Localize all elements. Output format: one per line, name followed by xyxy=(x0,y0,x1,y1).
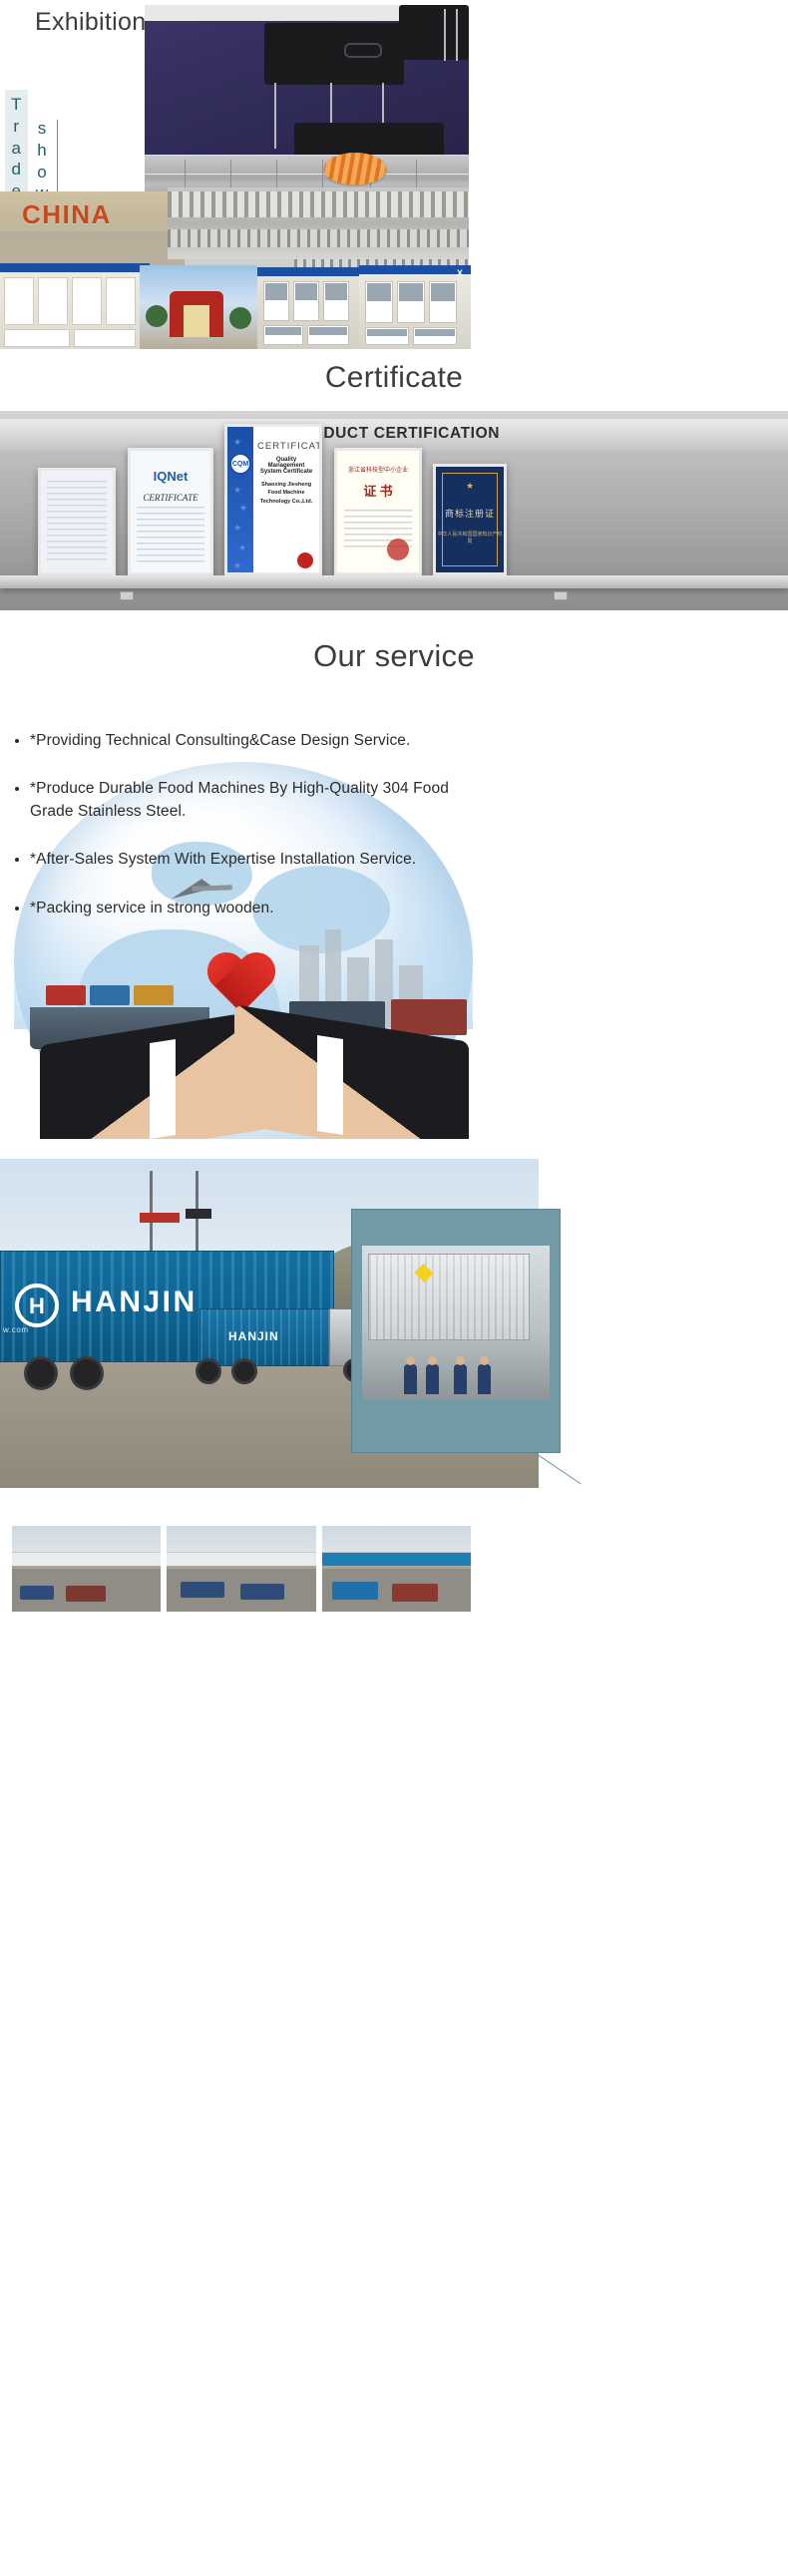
cqm-subtitle: Quality Management System Certificate xyxy=(257,457,315,475)
red-seal-icon xyxy=(297,552,313,568)
shipping-photo-loading xyxy=(351,1209,561,1453)
service-item: *Packing service in strong wooden. xyxy=(30,898,489,920)
certificate-title: Certificate xyxy=(0,349,788,411)
hanjin-brand-text-second: HANJIN xyxy=(228,1329,279,1343)
certificate-board: PRODUCT CERTIFICATION IQNet CERTIFICATE … xyxy=(0,411,788,610)
vertical-letter: h xyxy=(37,140,47,162)
vertical-letter: r xyxy=(13,116,19,138)
service-title: Our service xyxy=(0,610,788,674)
vertical-letter: T xyxy=(11,94,22,116)
certificate-section: Certificate PRODUCT CERTIFICATION IQNet … xyxy=(0,349,788,610)
vertical-letter: s xyxy=(38,118,47,140)
certificate-frame-trademark[interactable]: ★ 商标注册证 中华人民共和国国家知识产权局 xyxy=(433,464,507,575)
cqm-seal: CQM xyxy=(229,453,251,475)
exhibition-title: Exhibition xyxy=(35,8,146,37)
service-item: *Providing Technical Consulting&Case Des… xyxy=(30,730,489,752)
factory-photo xyxy=(12,1526,161,1612)
shipping-section: H HANJIN w.com HANJIN xyxy=(0,1139,788,1618)
product-detail-page: Exhibition T r a d e s h o w xyxy=(0,0,788,2576)
certificate-frame-cqm[interactable]: ★ ★ ★ ★ ★ ★ CQM CERTIFICATE Quality Mana… xyxy=(224,424,322,575)
exhibition-photo-booth-posters-right: X xyxy=(359,265,471,349)
service-section: Our service *Providing Technical Consult… xyxy=(0,610,788,1139)
factory-photo-strip xyxy=(12,1526,471,1612)
exhibition-photo-booth-posters-mid xyxy=(257,267,362,349)
exhibition-photo-outdoor-gate xyxy=(140,265,257,349)
vertical-letter: a xyxy=(11,138,21,160)
vertical-letter: d xyxy=(11,159,21,181)
cqm-title: CERTIFICATE xyxy=(257,441,315,452)
zhejiang-title: 证 书 xyxy=(337,481,419,500)
service-item: *Produce Durable Food Machines By High-Q… xyxy=(30,778,489,823)
zhejiang-top-text: 浙江省科技型中小企业 xyxy=(337,465,419,474)
trademark-subtitle: 中华人民共和国国家知识产权局 xyxy=(436,531,504,545)
factory-photo xyxy=(322,1526,471,1612)
hanjin-logo: H xyxy=(15,1284,59,1327)
exhibition-photo-machine-racks xyxy=(168,187,469,259)
hanjin-brand-text: HANJIN xyxy=(71,1286,197,1319)
trademark-title: 商标注册证 xyxy=(436,507,504,520)
certificate-frame-business-license[interactable] xyxy=(38,468,116,575)
factory-photo xyxy=(167,1526,315,1612)
certificate-frame-iqnet[interactable]: IQNet CERTIFICATE xyxy=(128,448,213,575)
national-emblem-icon: ★ xyxy=(436,481,504,492)
container-url-text: w.com xyxy=(3,1325,29,1334)
iqnet-word: CERTIFICATE xyxy=(131,493,210,503)
vertical-letter: o xyxy=(37,162,47,184)
product-certification-heading: PRODUCT CERTIFICATION xyxy=(0,425,788,443)
red-stamp-icon xyxy=(387,539,409,560)
cqm-company: Shaoxing Jiesheng Food Machine Technolog… xyxy=(257,481,315,506)
service-list: *Providing Technical Consulting&Case Des… xyxy=(30,730,489,945)
service-item: *After-Sales System With Expertise Insta… xyxy=(30,849,489,871)
iqnet-brand: IQNet xyxy=(131,469,210,484)
close-icon[interactable]: X xyxy=(457,268,463,278)
hanjin-container-second: HANJIN xyxy=(199,1308,339,1366)
certificate-frame-zhejiang[interactable]: 浙江省科技型中小企业 证 书 xyxy=(334,448,422,575)
china-banner-text: CHINA xyxy=(22,199,112,230)
food-sample xyxy=(324,153,386,184)
exhibition-photo-booth-posters-left xyxy=(0,263,150,349)
exhibition-section: Exhibition T r a d e s h o w xyxy=(0,0,788,349)
